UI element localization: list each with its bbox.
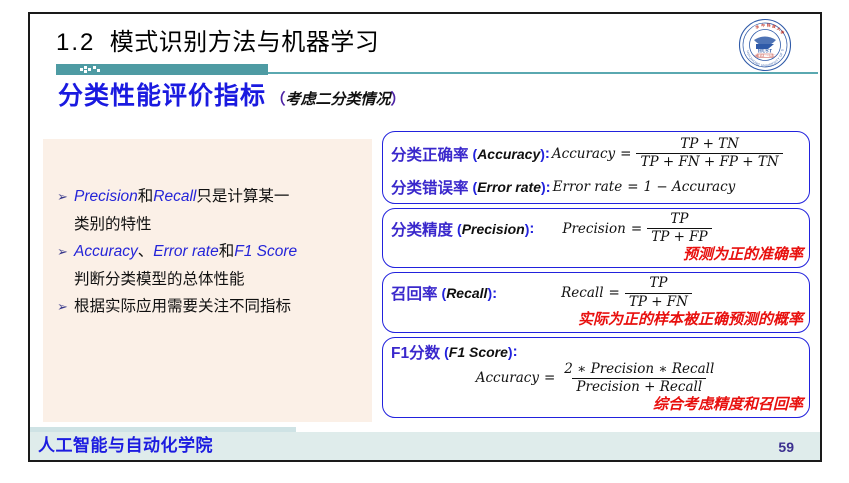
svg-text:科: 科 — [767, 23, 771, 28]
errorrate-colon: : — [546, 179, 551, 196]
bullet-list: ➢ Precision和Recall只是计算某一 类别的特性 ➢ Accurac… — [57, 183, 369, 321]
errorrate-formula: Error rate = 1 − Accuracy — [553, 179, 736, 195]
bullet-term: Accuracy — [74, 243, 138, 260]
f1score-denominator: Precision + Recall — [572, 378, 706, 395]
errorrate-rhs: 1 − Accuracy — [644, 179, 736, 195]
subtitle-paren-close: ） — [391, 91, 406, 108]
f1score-note: 综合考虑精度和召回率 — [391, 393, 803, 414]
f1score-formula-row: Accuracy = 2 ∗ Precision ∗ Recall Precis… — [391, 362, 803, 395]
f1score-fraction: 2 ∗ Precision ∗ Recall Precision + Recal… — [560, 362, 718, 395]
list-item: ➢ Accuracy、Error rate和F1 Score — [57, 238, 369, 265]
bullet-cn: 和 — [138, 188, 154, 205]
accuracy-denominator: TP + FN + FP + TN — [636, 153, 782, 170]
f1score-label-row: F1分数 (F1 Score) : — [391, 341, 803, 363]
university-emblem-logo: HUST 华 中 科 技 大 学 HUAZHONG UNIVERSITY OF … — [738, 18, 792, 72]
recall-label-en: (Recall) — [442, 285, 493, 301]
footer-school-name: 人工智能与自动化学院 — [38, 431, 213, 456]
svg-text:HUST: HUST — [758, 48, 773, 54]
equals-sign: = — [609, 285, 620, 301]
list-item: ➢ Precision和Recall只是计算某一 — [57, 183, 369, 210]
subtitle-paren-open: （ — [270, 91, 285, 108]
precision-label-cn: 分类精度 — [391, 218, 453, 240]
formula-column: 分类正确率 (Accuracy) : Accuracy = TP + TN TP… — [382, 131, 810, 422]
precision-numerator: TP — [666, 212, 692, 228]
svg-text:中国 武汉 · 一九五二: 中国 武汉 · 一九五二 — [754, 54, 776, 58]
precision-colon: : — [529, 220, 534, 237]
recall-denominator: TP + FN — [625, 293, 692, 310]
precision-label-en: (Precision) — [457, 221, 529, 237]
accuracy-numerator: TP + TN — [676, 137, 743, 153]
bullet-panel: ➢ Precision和Recall只是计算某一 类别的特性 ➢ Accurac… — [43, 139, 372, 422]
recall-note: 实际为正的样本被正确预测的概率 — [391, 308, 803, 329]
accuracy-label-en: (Accuracy) — [473, 146, 545, 162]
f1score-formula: Accuracy = 2 ∗ Precision ∗ Recall Precis… — [476, 362, 719, 395]
bullet-continuation: 判断分类模型的总体性能 — [57, 266, 369, 293]
bullet-text: Accuracy、Error rate和F1 Score — [74, 238, 369, 265]
precision-denominator: TP + FP — [647, 228, 711, 245]
bullet-arrow-icon: ➢ — [57, 293, 74, 320]
bullet-text: Precision和Recall只是计算某一 — [74, 183, 369, 210]
bullet-term: Recall — [153, 188, 196, 205]
bullet-arrow-icon: ➢ — [57, 238, 74, 265]
precision-fraction: TP TP + FP — [647, 212, 711, 245]
equals-sign: = — [631, 221, 642, 237]
errorrate-lhs: Error rate — [553, 179, 623, 195]
precision-formula: Precision = TP TP + FP — [562, 212, 711, 245]
f1score-lhs: Accuracy — [476, 370, 539, 386]
f1score-colon: : — [513, 343, 518, 360]
slide-canvas: 1.2 模式识别方法与机器学习 HUST 华 中 科 技 大 学 — [28, 12, 822, 462]
bullet-cn: 和 — [219, 243, 235, 260]
f1score-box: F1分数 (F1 Score) : Accuracy = 2 ∗ Precisi… — [382, 337, 810, 418]
bullet-continuation: 类别的特性 — [57, 211, 369, 238]
errorrate-row: 分类错误率 (Error rate) : Error rate = 1 − Ac… — [391, 176, 803, 198]
divider-dots-decoration — [80, 66, 102, 73]
equals-sign: = — [627, 179, 638, 195]
page-number: 59 — [778, 439, 794, 455]
recall-box: 召回率 (Recall) : Recall = TP TP + FN 实际为正的… — [382, 272, 810, 332]
recall-label-cn: 召回率 — [391, 282, 438, 304]
equals-sign: = — [544, 370, 555, 386]
bullet-cn: 只是计算某一 — [196, 188, 289, 205]
bullet-text: 根据实际应用需要关注不同指标 — [74, 293, 369, 320]
recall-colon: : — [492, 285, 497, 302]
precision-note: 预测为正的准确率 — [391, 243, 803, 264]
accuracy-lhs: Accuracy — [552, 146, 615, 162]
title-divider — [56, 63, 818, 77]
equals-sign: = — [620, 146, 631, 162]
bullet-term: Error rate — [153, 243, 218, 260]
errorrate-label-en: (Error rate) — [473, 179, 546, 195]
list-item: ➢ 根据实际应用需要关注不同指标 — [57, 293, 369, 320]
accuracy-fraction: TP + TN TP + FN + FP + TN — [636, 137, 782, 170]
title-number: 1.2 — [56, 29, 95, 56]
subtitle-main-text: 分类性能评价指标 — [58, 82, 266, 110]
accuracy-row: 分类正确率 (Accuracy) : Accuracy = TP + TN TP… — [391, 137, 803, 170]
bullet-term: F1 Score — [234, 243, 297, 260]
accuracy-colon: : — [545, 145, 550, 162]
recall-formula: Recall = TP TP + FN — [561, 276, 692, 309]
bullet-arrow-icon: ➢ — [57, 183, 74, 210]
errorrate-label-cn: 分类错误率 — [391, 176, 469, 198]
bullet-cn: 根据实际应用需要关注不同指标 — [74, 298, 291, 315]
precision-row: 分类精度 (Precision) : Precision = TP TP + F… — [391, 212, 803, 245]
bullet-cn: 、 — [138, 243, 154, 260]
section-subtitle: 分类性能评价指标 （考虑二分类情况） — [58, 76, 406, 112]
page-title: 1.2 模式识别方法与机器学习 — [56, 22, 379, 57]
title-text: 模式识别方法与机器学习 — [110, 29, 380, 56]
recall-fraction: TP TP + FN — [625, 276, 692, 309]
precision-lhs: Precision — [562, 221, 625, 237]
subtitle-note-text: 考虑二分类情况 — [285, 90, 390, 108]
f1score-label-cn: F1分数 — [391, 341, 440, 363]
recall-lhs: Recall — [561, 285, 603, 301]
recall-row: 召回率 (Recall) : Recall = TP TP + FN — [391, 276, 803, 309]
accuracy-formula: Accuracy = TP + TN TP + FN + FP + TN — [552, 137, 783, 170]
accuracy-errorrate-box: 分类正确率 (Accuracy) : Accuracy = TP + TN TP… — [382, 131, 810, 204]
accuracy-label-cn: 分类正确率 — [391, 143, 469, 165]
recall-numerator: TP — [645, 276, 671, 292]
bullet-term: Precision — [74, 188, 138, 205]
f1score-numerator: 2 ∗ Precision ∗ Recall — [560, 362, 718, 378]
precision-box: 分类精度 (Precision) : Precision = TP TP + F… — [382, 208, 810, 268]
f1score-label-en: (F1 Score) — [444, 344, 512, 360]
